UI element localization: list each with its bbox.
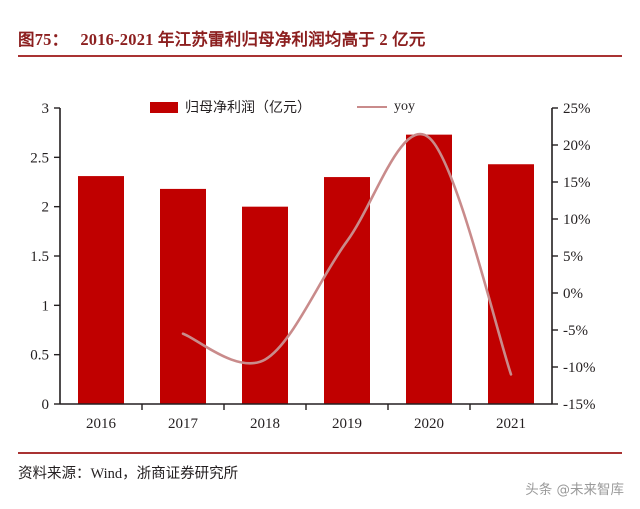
page-title: 2016-2021 年江苏雷利归母净利润均高于 2 亿元: [80, 30, 425, 49]
bars-group: [78, 135, 534, 404]
left-tick-label: 0: [42, 397, 50, 413]
right-tick-label: -10%: [563, 360, 596, 376]
figure-title-line: 图75：2016-2021 年江苏雷利归母净利润均高于 2 亿元: [18, 26, 622, 50]
chart-plot-area: 00.511.522.53-15%-10%-5%0%5%10%15%20%25%…: [0, 90, 640, 440]
bar-2020: [406, 135, 452, 404]
figure-header: 图75：2016-2021 年江苏雷利归母净利润均高于 2 亿元: [18, 26, 622, 60]
axes-group: [54, 108, 558, 410]
x-axis-label-2021: 2021: [496, 416, 526, 432]
left-tick-label: 2.5: [30, 150, 49, 166]
chart-svg: 00.511.522.53-15%-10%-5%0%5%10%15%20%25%…: [0, 90, 640, 440]
x-axis-label-2017: 2017: [168, 416, 199, 432]
bar-2018: [242, 207, 288, 404]
left-tick-label: 3: [42, 101, 50, 117]
left-tick-label: 0.5: [30, 348, 49, 364]
left-tick-label: 1: [42, 298, 50, 314]
left-tick-label: 2: [42, 200, 50, 216]
figure-label: 图75：: [18, 26, 68, 50]
footer-divider: [18, 452, 622, 454]
bar-2017: [160, 189, 206, 404]
right-tick-label: 25%: [563, 101, 591, 117]
right-tick-label: 5%: [563, 249, 583, 265]
source-note: 资料来源：Wind，浙商证券研究所: [18, 462, 238, 483]
watermark: 头条 @未来智库: [525, 478, 624, 498]
right-tick-label: 20%: [563, 138, 591, 154]
x-axis-label-2016: 2016: [86, 416, 117, 432]
title-divider: [18, 55, 622, 57]
right-tick-label: 15%: [563, 175, 591, 191]
right-tick-label: 0%: [563, 286, 583, 302]
right-tick-label: -15%: [563, 397, 596, 413]
bar-2016: [78, 176, 124, 404]
x-axis-label-2020: 2020: [414, 416, 444, 432]
x-axis-label-2018: 2018: [250, 416, 280, 432]
right-tick-label: -5%: [563, 323, 588, 339]
right-tick-label: 10%: [563, 212, 591, 228]
bar-2019: [324, 177, 370, 404]
x-axis-label-2019: 2019: [332, 416, 362, 432]
left-tick-label: 1.5: [30, 249, 49, 265]
bar-2021: [488, 164, 534, 404]
